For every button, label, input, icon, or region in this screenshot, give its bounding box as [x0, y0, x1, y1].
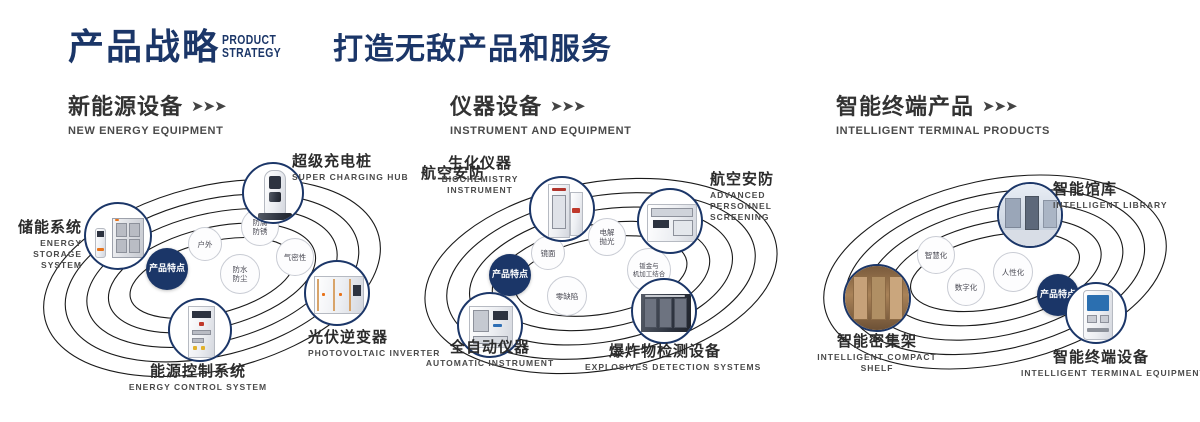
node-label-en: BIOCHEMISTRY INSTRUMENT [425, 174, 535, 196]
node-caption-energy-storage-system: 储能系统 ENERGY STORAGE SYSTEM [0, 218, 82, 271]
compact-shelf-photo [845, 266, 909, 330]
node-label-cn: 全自动仪器 [415, 338, 565, 356]
feature-bubble: 零缺陷 [547, 276, 587, 316]
feature-bubble-label: 气密性 [284, 253, 307, 262]
feature-bubble-label: 智慧化 [925, 251, 948, 260]
chevrons-right-icon: ➤➤➤ [982, 93, 1017, 119]
node-caption-intelligent-library: 智能馆库 INTELLIGENT LIBRARY [1053, 180, 1168, 211]
intelligent-library-photo [999, 184, 1061, 246]
node-label-cn: 生化仪器 [425, 154, 535, 172]
node-label-en: INTELLIGENT TERMINAL EQUIPMENT [1021, 368, 1181, 379]
feature-bubble-label: 人性化 [1002, 268, 1025, 277]
section-title-cn-text: 新能源设备 [68, 95, 183, 120]
node-label-en: ENERGY STORAGE SYSTEM [0, 238, 82, 271]
biochemistry-photo [531, 178, 593, 240]
feature-bubble: 智慧化 [917, 236, 955, 274]
node-energy-storage-system[interactable] [84, 202, 152, 270]
feature-bubble: 人性化 [993, 252, 1033, 292]
section-title-en: INSTRUMENT AND EQUIPMENT [450, 125, 631, 137]
feature-bubble: 户外 [188, 227, 222, 261]
energy-storage-photo [86, 204, 150, 268]
node-intelligent-compact-shelf[interactable] [843, 264, 911, 332]
center-badge-label: 产品特点 [492, 270, 528, 281]
node-caption-energy-control-system: 能源控制系统 ENERGY CONTROL SYSTEM [88, 362, 308, 393]
feature-bubble-label: 零缺陷 [556, 292, 579, 301]
node-label-cn: 智能终端设备 [1021, 348, 1181, 366]
node-caption-automatic-instrument: 全自动仪器 AUTOMATIC INSTRUMENT [415, 338, 565, 369]
node-energy-control-system[interactable] [168, 298, 232, 362]
section-title-cn-text: 仪器设备 [450, 95, 542, 120]
center-badge: 产品特点 [489, 254, 531, 296]
center-badge-label: 产品特点 [149, 264, 185, 275]
cluster-instrument: 镜面 电解 抛光 零缺陷 钣金与 机加工结合 产品特点 航空安防 生化仪器 BI… [405, 150, 805, 400]
page-slogan: 打造无敌产品和服务 [333, 32, 612, 68]
cluster-new-energy: 户外 防腐 防锈 防水 防尘 气密性 产品特点 储能系统 ENERGY STOR… [20, 150, 420, 400]
node-label-en: INTELLIGENT COMPACT SHELF [807, 352, 947, 374]
node-caption-intelligent-compact-shelf: 智能密集架 INTELLIGENT COMPACT SHELF [807, 332, 947, 374]
node-label-cn: 储能系统 [0, 218, 82, 236]
explosives-detection-photo [633, 280, 695, 342]
pv-inverter-photo [306, 262, 368, 324]
feature-bubble-label: 防水 防尘 [233, 265, 248, 283]
section-title-cn: 仪器设备➤➤➤ [450, 93, 631, 121]
section-heading-intelligent-terminal: 智能终端产品➤➤➤ INTELLIGENT TERMINAL PRODUCTS [836, 93, 1050, 137]
node-label-en: AUTOMATIC INSTRUMENT [415, 358, 565, 369]
node-caption-advanced-personnel-screening: 航空安防 ADVANCED PERSONNEL SCREENING [710, 170, 802, 223]
node-caption-intelligent-terminal-equipment: 智能终端设备 INTELLIGENT TERMINAL EQUIPMENT [1021, 348, 1181, 379]
page-title-en: PRODUCT STRATEGY [222, 33, 281, 59]
node-caption-explosives-detection-systems: 爆炸物检测设备 EXPLOSIVES DETECTION SYSTEMS [585, 342, 745, 373]
product-strategy-infographic: 产品战略 PRODUCT STRATEGY 打造无敌产品和服务 新能源设备➤➤➤… [0, 0, 1200, 422]
chevrons-right-icon: ➤➤➤ [191, 93, 226, 119]
screening-photo [639, 190, 701, 252]
node-photovoltaic-inverter[interactable] [304, 260, 370, 326]
section-title-cn-text: 智能终端产品 [836, 95, 974, 120]
node-biochemistry-instrument[interactable] [529, 176, 595, 242]
section-heading-new-energy: 新能源设备➤➤➤ NEW ENERGY EQUIPMENT [68, 93, 226, 137]
node-label-cn: 能源控制系统 [88, 362, 308, 380]
energy-control-photo [170, 300, 230, 360]
feature-bubble-label: 钣金与 机加工结合 [633, 262, 666, 278]
section-title-en: INTELLIGENT TERMINAL PRODUCTS [836, 125, 1050, 137]
node-label-en: INTELLIGENT LIBRARY [1053, 200, 1168, 211]
chevrons-right-icon: ➤➤➤ [550, 93, 585, 119]
node-caption-biochemistry-instrument: 生化仪器 BIOCHEMISTRY INSTRUMENT [425, 154, 535, 196]
page-header: 产品战略 PRODUCT STRATEGY 打造无敌产品和服务 [0, 0, 1200, 85]
page-title-en-line2: STRATEGY [222, 46, 281, 59]
cluster-intelligent-terminal: 智慧化 数字化 人性化 产品特点 智能馆库 INTELLIGENT LIBRAR… [795, 150, 1195, 400]
section-title-cn: 智能终端产品➤➤➤ [836, 93, 1050, 121]
feature-bubble: 数字化 [947, 268, 985, 306]
node-label-en: ENERGY CONTROL SYSTEM [88, 382, 308, 393]
feature-bubble-label: 电解 抛光 [600, 228, 615, 246]
node-label-cn: 爆炸物检测设备 [585, 342, 745, 360]
node-label-cn: 航空安防 [710, 170, 802, 188]
node-explosives-detection-systems[interactable] [631, 278, 697, 344]
feature-bubble-label: 户外 [198, 240, 213, 249]
node-intelligent-terminal-equipment[interactable] [1065, 282, 1127, 344]
feature-bubble-label: 镜面 [541, 249, 556, 258]
section-title-cn: 新能源设备➤➤➤ [68, 93, 226, 121]
node-label-en: EXPLOSIVES DETECTION SYSTEMS [585, 362, 745, 373]
feature-bubble: 电解 抛光 [588, 218, 626, 256]
center-badge: 产品特点 [146, 248, 188, 290]
section-heading-instrument: 仪器设备➤➤➤ INSTRUMENT AND EQUIPMENT [450, 93, 631, 137]
node-label-cn: 智能馆库 [1053, 180, 1168, 198]
page-title-cn: 产品战略 [68, 28, 220, 68]
feature-bubble: 防水 防尘 [220, 254, 260, 294]
node-label-en: ADVANCED PERSONNEL SCREENING [710, 190, 802, 223]
feature-bubble-label: 数字化 [955, 283, 978, 292]
section-title-en: NEW ENERGY EQUIPMENT [68, 125, 226, 137]
node-advanced-personnel-screening[interactable] [637, 188, 703, 254]
node-label-cn: 智能密集架 [807, 332, 947, 350]
terminal-equipment-photo [1067, 284, 1125, 342]
